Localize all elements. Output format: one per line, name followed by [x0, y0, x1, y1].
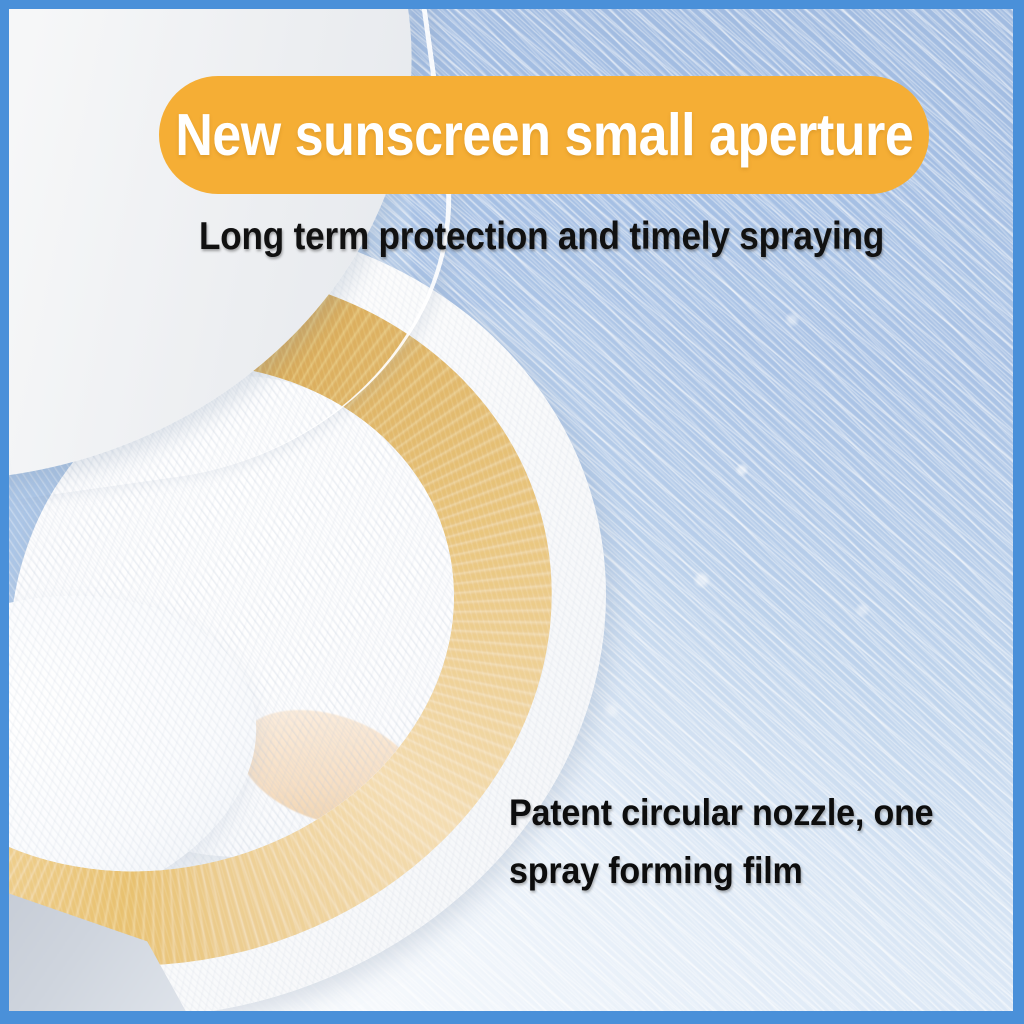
feature-caption-line-2: spray forming film — [509, 842, 933, 900]
headline-banner: New sunscreen small aperture — [159, 76, 929, 194]
poster-canvas: New sunscreen small aperture Long term p… — [0, 0, 1024, 1024]
subtitle-text: Long term protection and timely spraying — [199, 215, 884, 259]
feature-caption: Patent circular nozzle, one spray formin… — [509, 784, 933, 900]
feature-caption-line-1: Patent circular nozzle, one — [509, 784, 933, 842]
poster-content: New sunscreen small aperture Long term p… — [9, 9, 1013, 1011]
headline-text: New sunscreen small aperture — [175, 101, 913, 169]
